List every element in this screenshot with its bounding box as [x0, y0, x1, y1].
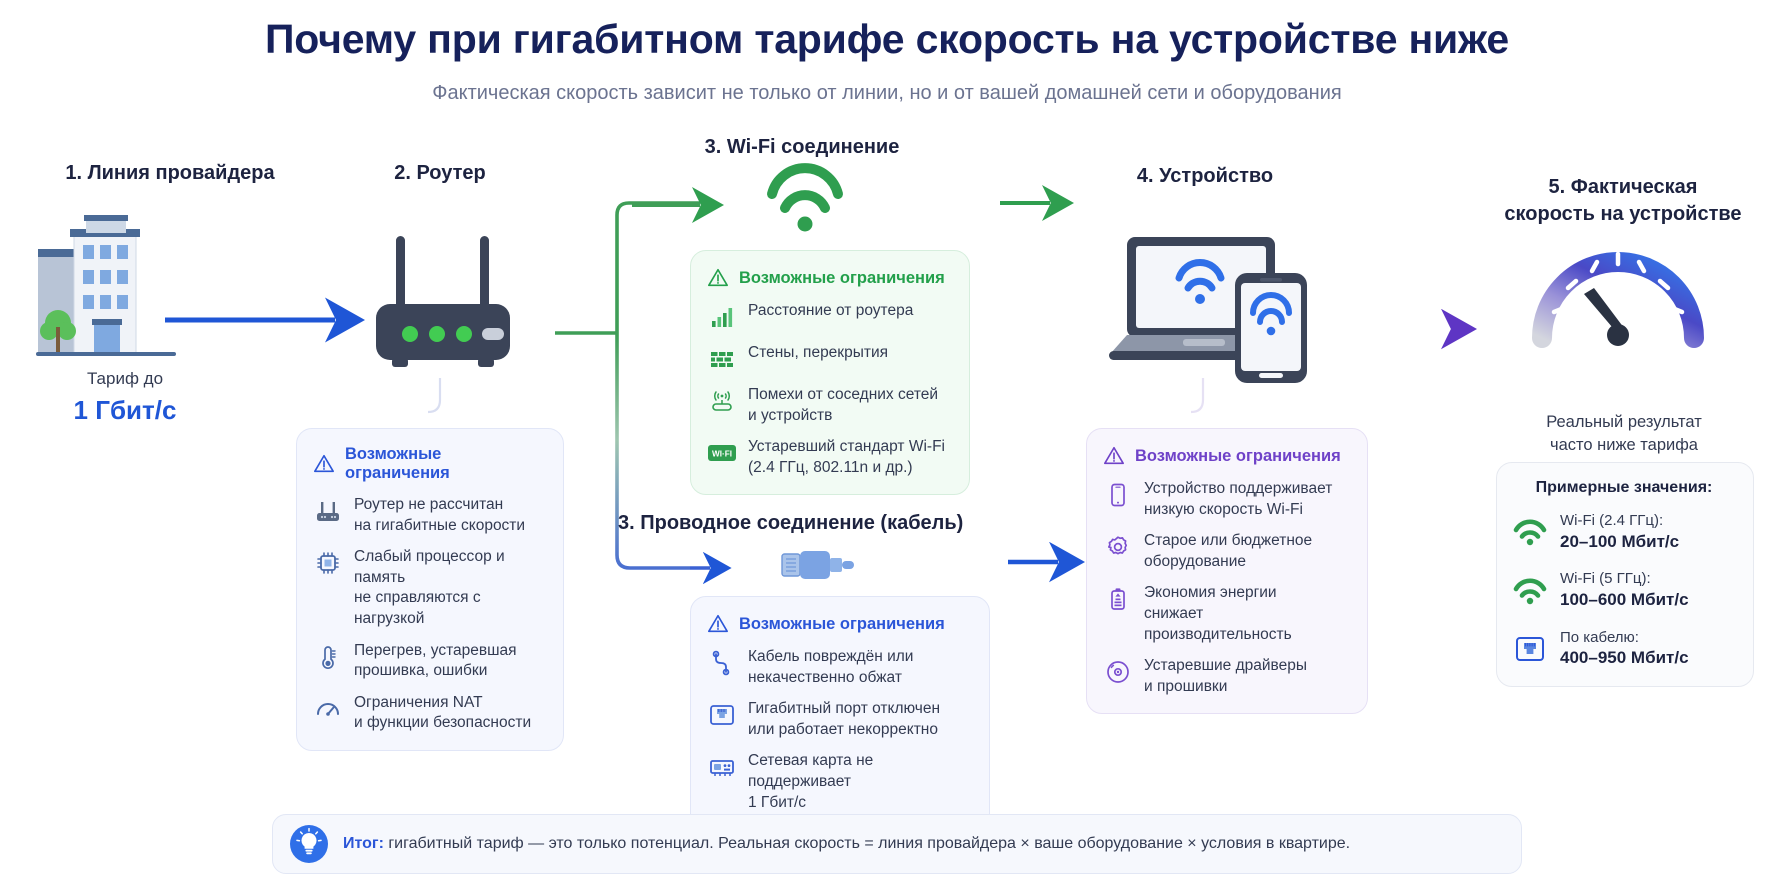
list-item: Старое или бюджетное оборудование: [1103, 531, 1349, 572]
list-item-text: Помехи от соседних сетей и устройств: [748, 385, 938, 426]
ethernet-port-icon: [1513, 632, 1547, 666]
list-item-text: Экономия энергии снижает производительно…: [1144, 583, 1349, 645]
gauge-icon: [313, 694, 343, 724]
summary-body: гигабитный тариф — это только потенциал.…: [384, 835, 1350, 852]
list-item: WI·FI Устаревший стандарт Wi-Fi (2.4 ГГц…: [707, 437, 951, 478]
panel-approx-values: Примерные значения: Wi-Fi (2.4 ГГц): 20–…: [1496, 462, 1754, 687]
list-item-text: Стены, перекрытия: [748, 343, 888, 364]
list-item-text: Устаревший стандарт Wi-Fi (2.4 ГГц, 802.…: [748, 437, 945, 478]
panel-wired-limits: Возможные ограничения Кабель повреждён и…: [690, 596, 990, 830]
cable-plug-icon: [780, 546, 856, 586]
warning-triangle-icon: [707, 613, 729, 635]
list-item: Устаревшие драйверы и прошивки: [1103, 656, 1349, 697]
brick-wall-icon: [707, 344, 737, 374]
list-item: Экономия энергии снижает производительно…: [1103, 583, 1349, 645]
list-item-text: Сетевая карта не поддерживает 1 Гбит/с: [748, 751, 971, 813]
disc-icon: [1103, 657, 1133, 687]
ethernet-port-icon: [707, 700, 737, 730]
list-item: Роутер не рассчитан на гигабитные скорос…: [313, 495, 545, 536]
battery-icon: [1103, 584, 1133, 614]
summary-text: Итог: гигабитный тариф — это только поте…: [343, 835, 1350, 853]
list-item: По кабелю: 400–950 Мбит/с: [1513, 628, 1735, 670]
list-item: Слабый процессор и память не справляются…: [313, 547, 545, 629]
gear-icon: [1103, 532, 1133, 562]
panel-heading-router: Возможные ограничения: [313, 445, 545, 483]
step-title-wifi: 3. Wi-Fi соединение: [622, 134, 982, 160]
callout-stem-router: [318, 378, 440, 425]
list-item-text: Роутер не рассчитан на гигабитные скорос…: [354, 495, 525, 536]
panel-heading-wired: Возможные ограничения: [707, 613, 971, 635]
wifi-green-icon: [766, 172, 844, 234]
list-item: Стены, перекрытия: [707, 343, 951, 374]
list-item: Перегрев, устаревшая прошивка, ошибки: [313, 641, 545, 682]
lightbulb-icon: [289, 824, 329, 864]
wifi-green-icon: [1513, 515, 1547, 549]
svg-text:WI·FI: WI·FI: [712, 450, 732, 459]
step-title-device: 4. Устройство: [1040, 163, 1370, 189]
signal-bars-icon: [707, 302, 737, 332]
warning-triangle-icon: [313, 453, 335, 475]
value-texts: По кабелю: 400–950 Мбит/с: [1560, 628, 1689, 670]
laptop-phone-icon: [1105, 235, 1315, 380]
cpu-chip-icon: [313, 548, 343, 578]
cable-icon: [707, 648, 737, 678]
list-item-text: Устройство поддерживает низкую скорость …: [1144, 479, 1332, 520]
router-icon: [313, 496, 343, 526]
list-item-text: Гигабитный порт отключен или работает не…: [748, 699, 940, 740]
list-item-text: Перегрев, устаревшая прошивка, ошибки: [354, 641, 517, 682]
list-item: Сетевая карта не поддерживает 1 Гбит/с: [707, 751, 971, 813]
panel-wifi-limits: Возможные ограничения Расстояние от роут…: [690, 250, 970, 495]
panel-router-limits: Возможные ограничения Роутер не рассчита…: [296, 428, 564, 751]
warning-triangle-icon: [707, 267, 729, 289]
list-item: Помехи от соседних сетей и устройств: [707, 385, 951, 426]
list-item-text: Старое или бюджетное оборудование: [1144, 531, 1312, 572]
list-item: Расстояние от роутера: [707, 301, 951, 332]
list-item: Кабель повреждён или некачественно обжат: [707, 647, 971, 688]
wifi-badge-icon: WI·FI: [707, 438, 737, 468]
smartphone-icon: [1103, 480, 1133, 510]
speedometer-icon: [1528, 228, 1718, 358]
step-title-router: 2. Роутер: [280, 160, 600, 186]
panel-heading-wifi: Возможные ограничения: [707, 267, 951, 289]
callout-stem-device: [1191, 378, 1203, 412]
list-item: Wi-Fi (2.4 ГГц): 20–100 Мбит/с: [1513, 511, 1735, 553]
provider-caption: Тариф до 1 Гбит/с: [10, 368, 240, 428]
approx-values-title: Примерные значения:: [1513, 479, 1735, 497]
step-title-actual: 5. Фактическая скорость на устройстве: [1478, 148, 1768, 227]
building-icon: [36, 215, 186, 360]
list-item-text: Устаревшие драйверы и прошивки: [1144, 656, 1307, 697]
list-item: Гигабитный порт отключен или работает не…: [707, 699, 971, 740]
router-device-icon: [368, 236, 518, 381]
list-item-text: Кабель повреждён или некачественно обжат: [748, 647, 913, 688]
infographic-canvas: Почему при гигабитном тарифе скорость на…: [0, 0, 1774, 887]
list-item: Wi-Fi (5 ГГц): 100–600 Мбит/с: [1513, 569, 1735, 611]
panel-device-limits: Возможные ограничения Устройство поддерж…: [1086, 428, 1368, 714]
warning-triangle-icon: [1103, 445, 1125, 467]
network-card-icon: [707, 752, 737, 782]
list-item: Устройство поддерживает низкую скорость …: [1103, 479, 1349, 520]
list-item-text: Ограничения NAT и функции безопасности: [354, 693, 531, 734]
list-item: Ограничения NAT и функции безопасности: [313, 693, 545, 734]
value-texts: Wi-Fi (2.4 ГГц): 20–100 Мбит/с: [1560, 511, 1679, 553]
value-texts: Wi-Fi (5 ГГц): 100–600 Мбит/с: [1560, 569, 1689, 611]
actual-speed-caption: Реальный результат часто ниже тарифа: [1484, 388, 1764, 456]
panel-heading-device: Возможные ограничения: [1103, 445, 1349, 467]
thermometer-icon: [313, 642, 343, 672]
summary-label: Итог:: [343, 835, 384, 852]
list-item-text: Расстояние от роутера: [748, 301, 913, 322]
interference-icon: [707, 386, 737, 416]
wifi-green-icon: [1513, 574, 1547, 608]
list-item-text: Слабый процессор и память не справляются…: [354, 547, 545, 629]
step-title-wired: 3. Проводное соединение (кабель): [618, 510, 998, 536]
summary-bar: Итог: гигабитный тариф — это только поте…: [272, 814, 1522, 874]
